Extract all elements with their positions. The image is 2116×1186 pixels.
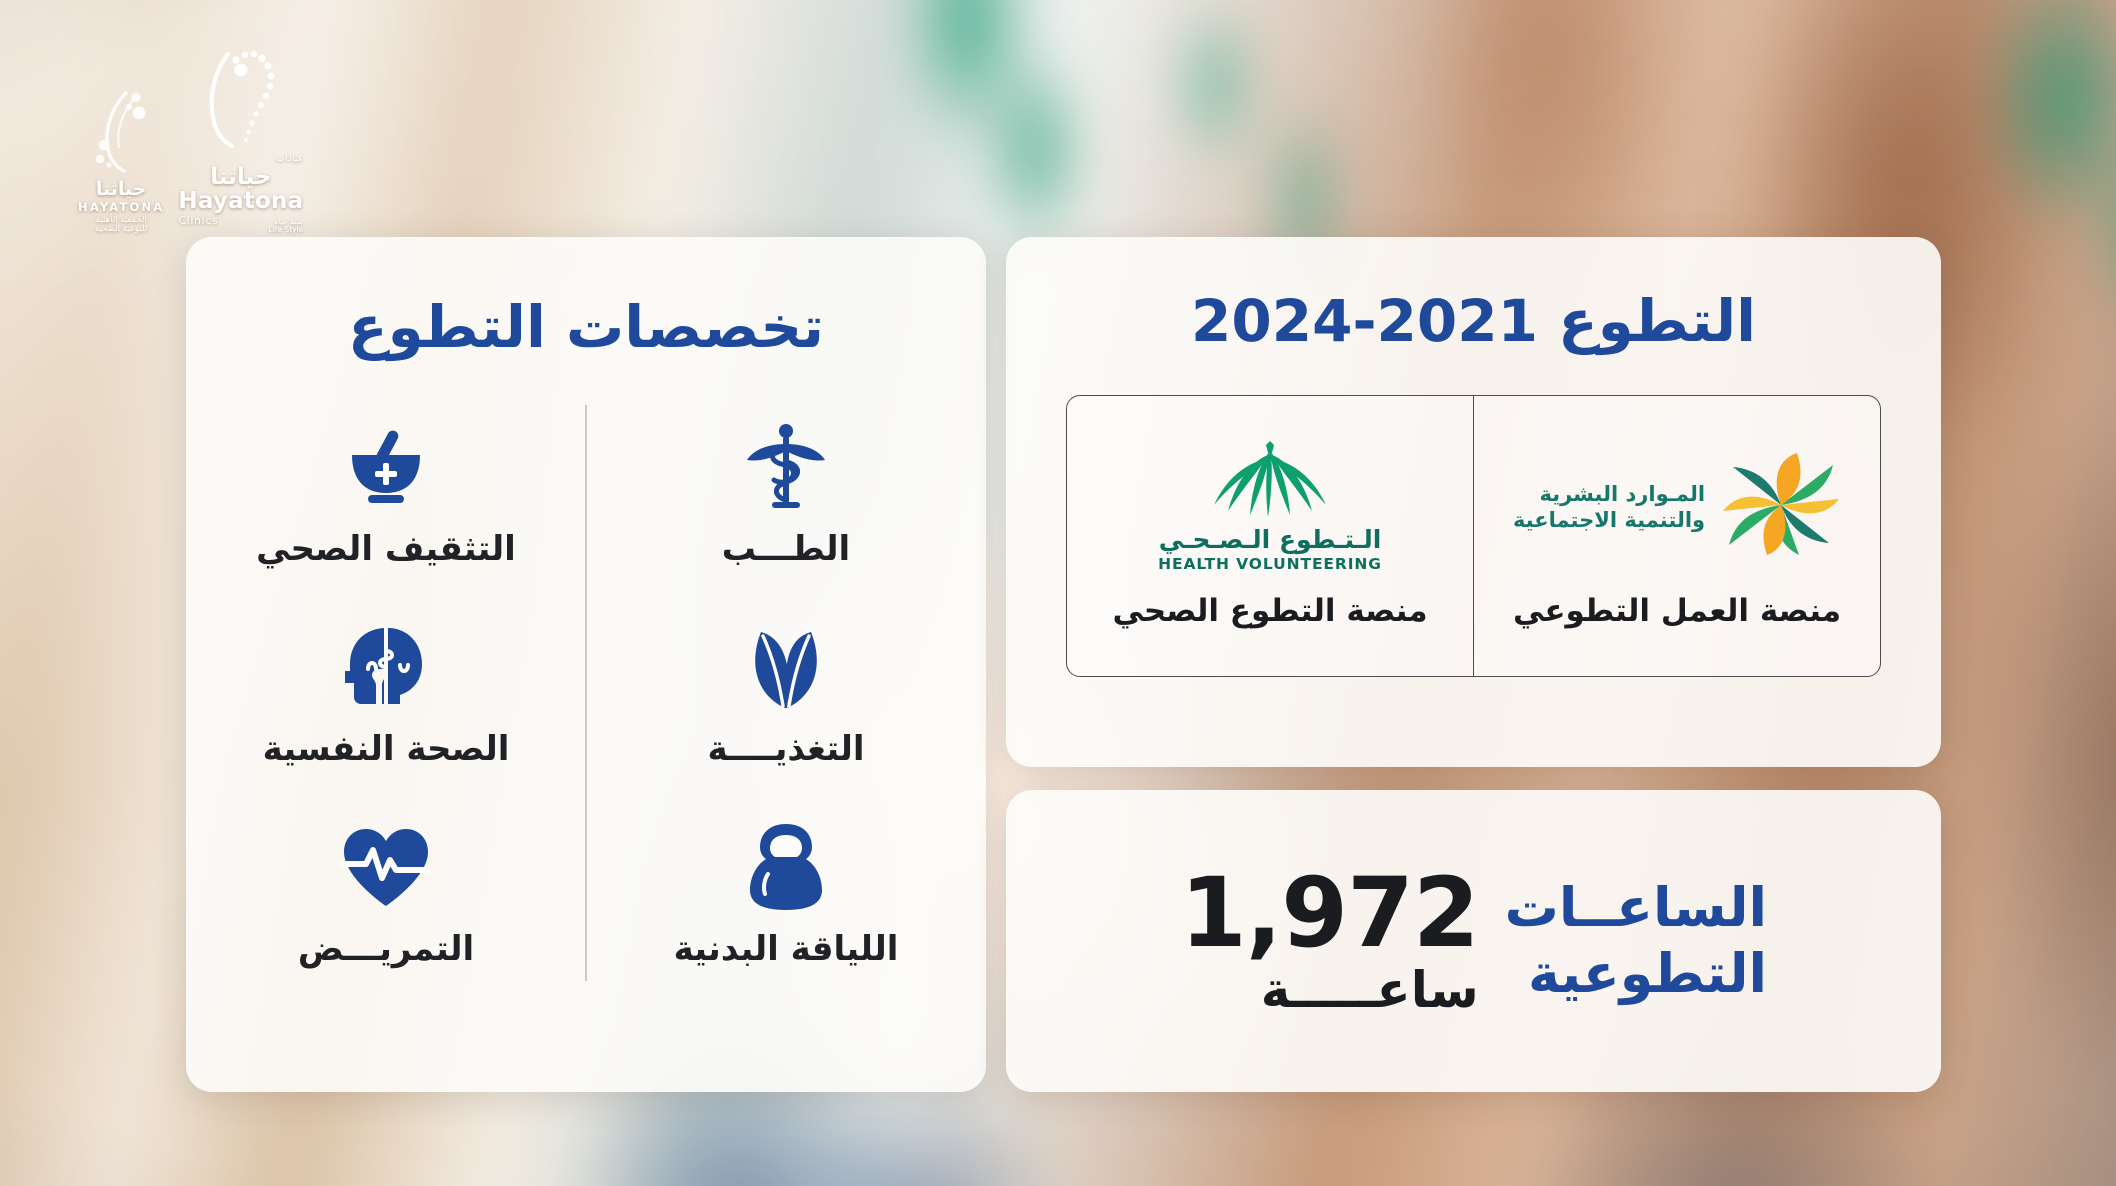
hours-unit: ساعـــــة (1180, 963, 1479, 1018)
kettlebell-icon (738, 821, 834, 913)
specialty-label: الصحة النفسية (263, 729, 510, 769)
logo-secondary-arabic: حياتنا (178, 164, 303, 190)
platform-item-volunteer-work[interactable]: المـوارد البشرية والتنمية الاجتماعية منص… (1474, 396, 1880, 676)
specialty-item-nutrition[interactable]: التغذيــــة (586, 595, 986, 795)
platform-item-health-volunteering[interactable]: الـتـطوع الـصـحـي HEALTH VOLUNTEERING من… (1067, 396, 1474, 676)
logo-hayatona-association: حياتنا HAYATONA الجمعية الأهلية للتوعية … (78, 87, 164, 235)
hayatona-clinics-dots-icon (192, 46, 290, 154)
logo-primary-english: HAYATONA (78, 201, 164, 214)
mortar-pestle-cross-icon (338, 421, 434, 513)
heart-pulse-icon (338, 821, 434, 913)
platform-caption: منصة التطوع الصحي (1112, 593, 1427, 629)
puzzle-head-icon (338, 621, 434, 713)
platforms-box: المـوارد البشرية والتنمية الاجتماعية منص… (1066, 395, 1881, 677)
specialty-item-nursing[interactable]: التمريـــض (186, 795, 586, 995)
mhrsd-logo-line-2: والتنمية الاجتماعية (1513, 507, 1705, 533)
specialty-label: التثقيف الصحي (256, 529, 516, 569)
specialties-card: تخصصات التطوع الطـــب (186, 237, 986, 1092)
hours-label-line-1: الساعــات (1505, 875, 1767, 941)
specialty-label: الطـــب (722, 529, 850, 569)
palm-frond-icon (1206, 441, 1334, 523)
logo-secondary-tagline-2: Life Style (269, 226, 304, 235)
hv-logo-english: HEALTH VOLUNTEERING (1158, 555, 1382, 573)
specialty-label: التغذيــــة (708, 729, 865, 769)
specialty-item-physical-fitness[interactable]: اللياقة البدنية (586, 795, 986, 995)
logo-hayatona-clinics: عيادات حياتنا Hayatona Clinics نمط حياة … (178, 46, 303, 235)
brand-logos: حياتنا HAYATONA الجمعية الأهلية للتوعية … (78, 46, 303, 235)
infographic-canvas: حياتنا HAYATONA الجمعية الأهلية للتوعية … (0, 0, 2116, 1186)
logo-secondary-english: Hayatona (178, 188, 303, 214)
mhrsd-logo: المـوارد البشرية والتنمية الاجتماعية (1513, 443, 1841, 571)
caduceus-icon (738, 421, 834, 513)
logo-primary-tagline-2: للتوعية الصحية (78, 225, 164, 235)
specialties-grid: الطـــب التثقيف الصحي (186, 395, 986, 995)
specialties-title: تخصصات التطوع (186, 293, 986, 361)
hours-value-block: 1,972 ساعـــــة (1180, 865, 1479, 1018)
leaves-icon (738, 621, 834, 713)
specialty-item-health-education[interactable]: التثقيف الصحي (186, 395, 586, 595)
hours-label: الساعــات التطوعية (1505, 875, 1767, 1007)
hayatona-swoosh-icon (82, 87, 160, 177)
platforms-card: التطوع 2021-2024 (1006, 237, 1941, 767)
platforms-title: التطوع 2021-2024 (1006, 287, 1941, 355)
volunteer-hours-card: الساعــات التطوعية 1,972 ساعـــــة (1006, 790, 1941, 1092)
specialty-label: التمريـــض (298, 929, 474, 969)
specialty-item-medicine[interactable]: الطـــب (586, 395, 986, 595)
specialty-label: اللياقة البدنية (674, 929, 899, 969)
hv-logo-arabic: الـتـطوع الـصـحـي (1159, 525, 1382, 554)
health-volunteering-logo: الـتـطوع الـصـحـي HEALTH VOLUNTEERING (1158, 443, 1382, 571)
logo-secondary-top: عيادات (178, 154, 303, 165)
hours-number: 1,972 (1180, 865, 1479, 961)
hours-row: الساعــات التطوعية 1,972 ساعـــــة (1006, 790, 1941, 1092)
platform-caption: منصة العمل التطوعي (1513, 593, 1841, 629)
logo-primary-arabic: حياتنا (78, 179, 164, 201)
logo-secondary-sub: Clinics (178, 215, 218, 228)
hours-label-line-2: التطوعية (1505, 941, 1767, 1007)
specialty-item-mental-health[interactable]: الصحة النفسية (186, 595, 586, 795)
mhrsd-starburst-icon (1721, 451, 1841, 563)
mhrsd-logo-line-1: المـوارد البشرية (1513, 481, 1705, 507)
